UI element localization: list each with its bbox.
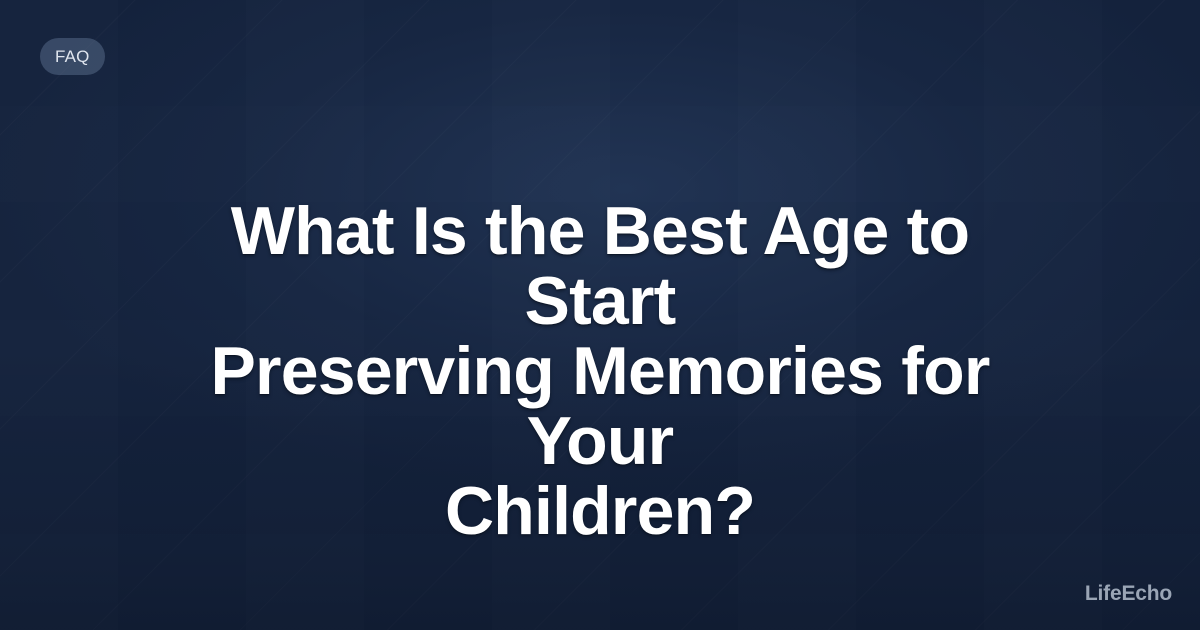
category-badge[interactable]: FAQ — [40, 38, 105, 75]
page-title: What Is the Best Age to Start Preserving… — [170, 196, 1030, 546]
page-title-line-3: Children? — [170, 476, 1030, 546]
headline-container: What Is the Best Age to Start Preserving… — [0, 196, 1200, 546]
page-title-line-1: What Is the Best Age to Start — [170, 196, 1030, 336]
og-share-card: FAQ What Is the Best Age to Start Preser… — [0, 0, 1200, 630]
brand-watermark: LifeEcho — [1085, 583, 1172, 604]
page-title-line-2: Preserving Memories for Your — [170, 336, 1030, 476]
category-badge-label: FAQ — [55, 48, 90, 65]
